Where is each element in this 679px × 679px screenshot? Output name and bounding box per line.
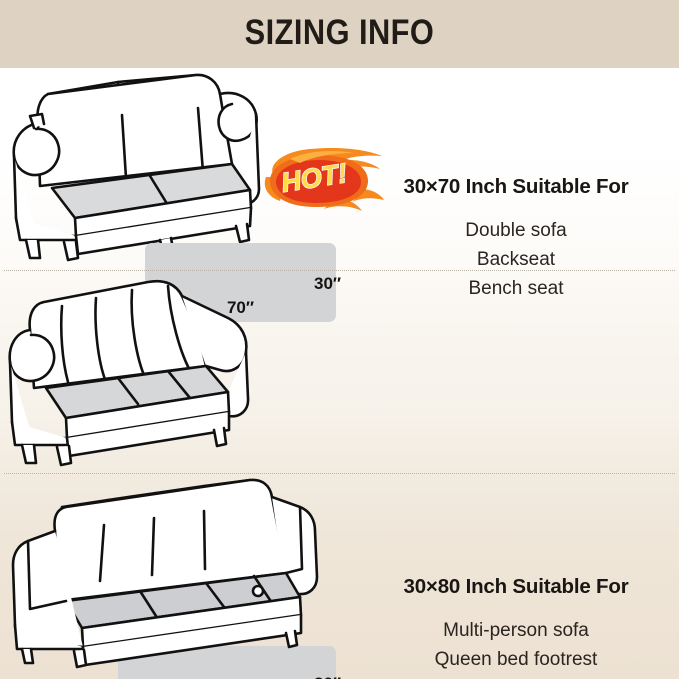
size-section-30x90: 90″ 30″ 30×90 Inch Suitable For Multi-pe… <box>0 473 679 679</box>
sofa-illustration-30x80 <box>0 270 360 473</box>
page-title: SIZING INFO <box>41 13 639 53</box>
use-case-item: Double sofa <box>360 216 672 245</box>
size-section-30x70: HOT! 70″ 30″ 30×70 Inch Suitable For Dou… <box>0 68 679 270</box>
sizing-info-page: SIZING INFO <box>0 0 679 679</box>
size-heading: 30×70 Inch Suitable For <box>360 175 672 199</box>
sofa-illustration-30x90 <box>0 473 360 679</box>
size-section-30x80: 80″ 30″ 30×80 Inch Suitable For Multi-pe… <box>0 270 679 473</box>
